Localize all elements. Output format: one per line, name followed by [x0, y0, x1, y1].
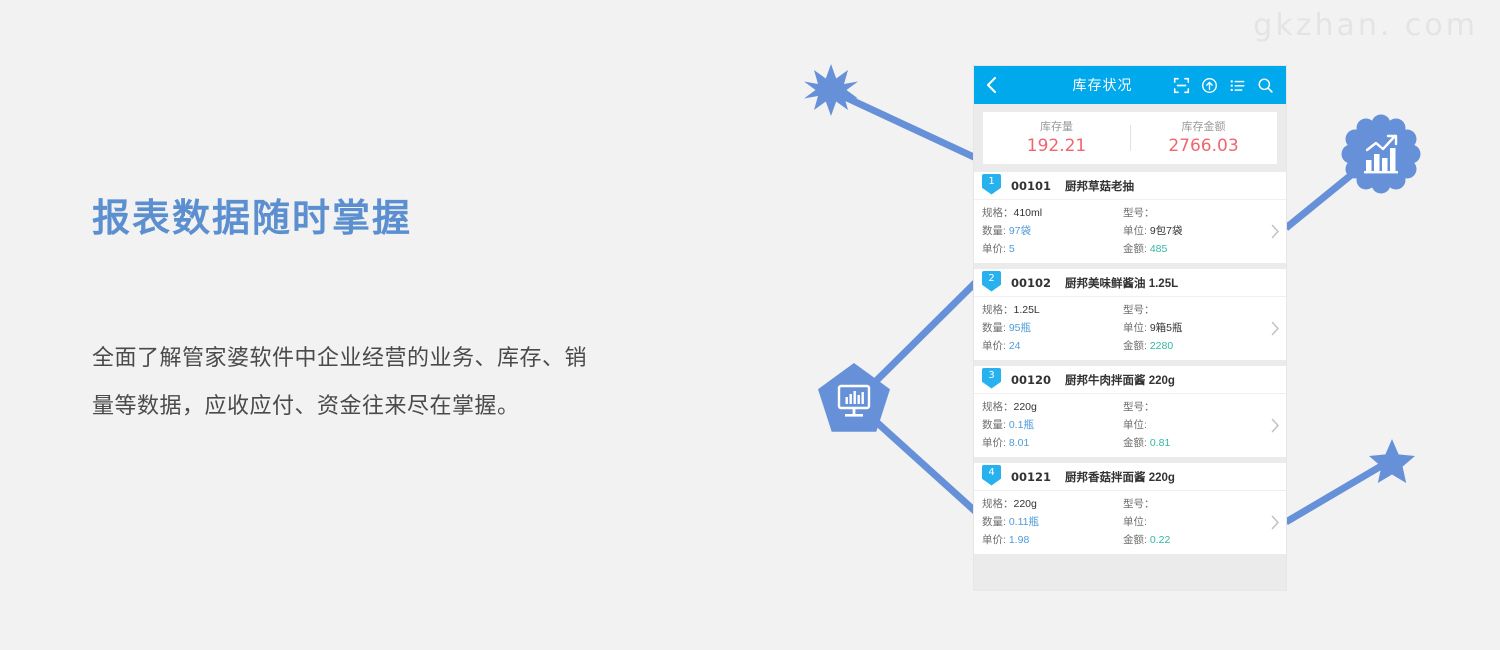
- connector-line-pentagon-lower: [872, 418, 976, 512]
- field-amount: 金额: 485: [1123, 241, 1264, 257]
- item-name: 厨邦牛肉拌面酱 220g: [1065, 372, 1175, 388]
- item-name: 厨邦美味鲜酱油 1.25L: [1065, 275, 1178, 291]
- item-fields: 规格：220g 型号： 数量: 0.1瓶 单位: 单价: 8.01 金额: 0.…: [982, 399, 1264, 451]
- list-item-body: 规格：220g 型号： 数量: 0.11瓶 单位: 单价: 1.98 金额: 0…: [974, 491, 1286, 554]
- site-watermark: gkzhan. com: [1253, 8, 1478, 43]
- field-price: 单价: 8.01: [982, 435, 1123, 451]
- index-badge: 1: [982, 174, 1001, 195]
- search-icon[interactable]: [1257, 77, 1274, 94]
- app-bar-title: 库存状况: [1006, 75, 1173, 95]
- summary-stat-stock-amount: 库存金额 2766.03: [1130, 119, 1277, 157]
- chevron-right-icon: [1271, 515, 1280, 530]
- app-bar: 库存状况: [974, 66, 1286, 104]
- list-item-header: 2 00102 厨邦美味鲜酱油 1.25L: [974, 269, 1286, 297]
- item-fields: 规格：410ml 型号： 数量: 97袋 单位: 9包7袋 单价: 5 金额: …: [982, 205, 1264, 257]
- scan-frame-icon[interactable]: [1173, 77, 1190, 94]
- chevron-right-icon: [1271, 321, 1280, 336]
- list-item-body: 规格：1.25L 型号： 数量: 95瓶 单位: 9箱5瓶 单价: 24 金额:…: [974, 297, 1286, 360]
- connector-line-right-upper: [1286, 158, 1372, 228]
- summary-value: 2766.03: [1130, 135, 1277, 157]
- sparkle-burst-icon: [804, 64, 858, 116]
- field-spec: 规格：220g: [982, 399, 1123, 415]
- field-model: 型号：: [1123, 399, 1264, 415]
- index-badge: 4: [982, 465, 1001, 486]
- field-unit: 单位:: [1123, 514, 1264, 530]
- field-model: 型号：: [1123, 302, 1264, 318]
- page-title: 报表数据随时掌握: [92, 196, 612, 242]
- field-qty: 数量: 97袋: [982, 223, 1123, 239]
- field-price: 单价: 24: [982, 338, 1123, 354]
- field-amount: 金额: 2280: [1123, 338, 1264, 354]
- field-qty: 数量: 0.1瓶: [982, 417, 1123, 433]
- page-description: 全面了解管家婆软件中企业经营的业务、库存、销量等数据，应收应付、资金往来尽在掌握…: [92, 334, 592, 430]
- connector-line-pentagon-upper: [872, 282, 976, 385]
- list-item[interactable]: 3 00120 厨邦牛肉拌面酱 220g 规格：220g 型号： 数量: 0.1…: [974, 360, 1286, 457]
- app-bar-actions: [1173, 77, 1274, 94]
- field-price: 单价: 5: [982, 241, 1123, 257]
- list-icon[interactable]: [1229, 77, 1246, 94]
- disclosure-chevron[interactable]: [1264, 418, 1286, 433]
- list-item-header: 1 00101 厨邦草菇老抽: [974, 172, 1286, 200]
- item-fields: 规格：1.25L 型号： 数量: 95瓶 单位: 9箱5瓶 单价: 24 金额:…: [982, 302, 1264, 354]
- field-unit: 单位: 9包7袋: [1123, 223, 1264, 239]
- back-button[interactable]: [986, 76, 1006, 94]
- item-name: 厨邦草菇老抽: [1065, 178, 1134, 194]
- pentagon-monitor-chart-icon: [818, 363, 890, 432]
- field-unit: 单位:: [1123, 417, 1264, 433]
- summary-section: 库存量 192.21 库存金额 2766.03: [974, 104, 1286, 164]
- list-footer-space: [974, 554, 1286, 590]
- circle-up-arrow-icon[interactable]: [1201, 77, 1218, 94]
- list-item[interactable]: 2 00102 厨邦美味鲜酱油 1.25L 规格：1.25L 型号： 数量: 9…: [974, 263, 1286, 360]
- item-code: 00102: [1011, 276, 1051, 290]
- disclosure-chevron[interactable]: [1264, 224, 1286, 239]
- list-item-header: 3 00120 厨邦牛肉拌面酱 220g: [974, 366, 1286, 394]
- index-badge: 3: [982, 368, 1001, 389]
- summary-card: 库存量 192.21 库存金额 2766.03: [983, 112, 1277, 164]
- field-spec: 规格：410ml: [982, 205, 1123, 221]
- list-item-body: 规格：220g 型号： 数量: 0.1瓶 单位: 单价: 8.01 金额: 0.…: [974, 394, 1286, 457]
- field-model: 型号：: [1123, 205, 1264, 221]
- scalloped-bar-chart-icon: [1342, 115, 1421, 194]
- item-code: 00121: [1011, 470, 1051, 484]
- star-icon: [1369, 439, 1415, 483]
- index-badge: 2: [982, 271, 1001, 292]
- field-model: 型号：: [1123, 496, 1264, 512]
- field-spec: 规格：1.25L: [982, 302, 1123, 318]
- list-item[interactable]: 4 00121 厨邦香菇拌面酱 220g 规格：220g 型号： 数量: 0.1…: [974, 457, 1286, 554]
- summary-label: 库存金额: [1130, 119, 1277, 135]
- connector-line-top-left: [834, 92, 976, 158]
- chevron-right-icon: [1271, 418, 1280, 433]
- disclosure-chevron[interactable]: [1264, 515, 1286, 530]
- marketing-copy: 报表数据随时掌握 全面了解管家婆软件中企业经营的业务、库存、销量等数据，应收应付…: [92, 196, 612, 242]
- item-code: 00120: [1011, 373, 1051, 387]
- field-qty: 数量: 95瓶: [982, 320, 1123, 336]
- summary-value: 192.21: [983, 135, 1130, 157]
- summary-stat-stock-qty: 库存量 192.21: [983, 119, 1130, 157]
- list-item[interactable]: 1 00101 厨邦草菇老抽 规格：410ml 型号： 数量: 97袋 单位: …: [974, 172, 1286, 263]
- list-item-header: 4 00121 厨邦香菇拌面酱 220g: [974, 463, 1286, 491]
- item-code: 00101: [1011, 179, 1051, 193]
- connector-line-right-lower: [1286, 462, 1388, 522]
- field-amount: 金额: 0.22: [1123, 532, 1264, 548]
- item-fields: 规格：220g 型号： 数量: 0.11瓶 单位: 单价: 1.98 金额: 0…: [982, 496, 1264, 548]
- field-amount: 金额: 0.81: [1123, 435, 1264, 451]
- inventory-list: 1 00101 厨邦草菇老抽 规格：410ml 型号： 数量: 97袋 单位: …: [974, 172, 1286, 554]
- item-name: 厨邦香菇拌面酱 220g: [1065, 469, 1175, 485]
- chevron-right-icon: [1271, 224, 1280, 239]
- field-price: 单价: 1.98: [982, 532, 1123, 548]
- list-item-body: 规格：410ml 型号： 数量: 97袋 单位: 9包7袋 单价: 5 金额: …: [974, 200, 1286, 263]
- summary-label: 库存量: [983, 119, 1130, 135]
- chevron-left-icon: [986, 76, 997, 94]
- page-root: gkzhan. com 报表数据随时掌握 全面了解管家婆软件中企业经营的业务、库…: [0, 0, 1500, 650]
- field-unit: 单位: 9箱5瓶: [1123, 320, 1264, 336]
- phone-mockup: 库存状况: [974, 66, 1286, 590]
- field-qty: 数量: 0.11瓶: [982, 514, 1123, 530]
- disclosure-chevron[interactable]: [1264, 321, 1286, 336]
- field-spec: 规格：220g: [982, 496, 1123, 512]
